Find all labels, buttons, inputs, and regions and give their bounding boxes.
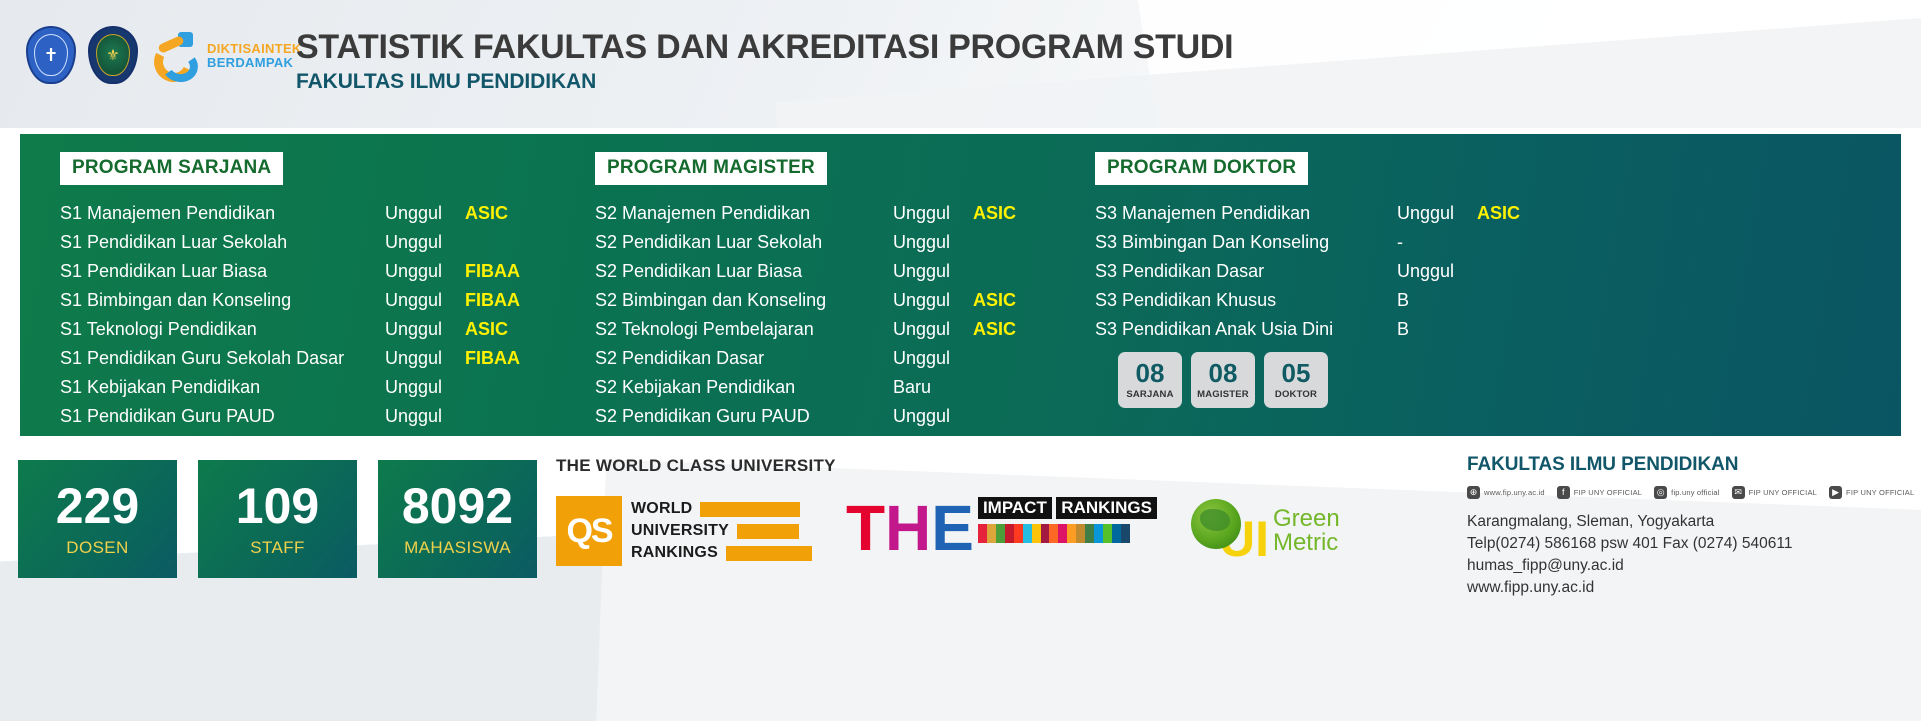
program-name: S2 Kebijakan Pendidikan — [595, 377, 893, 398]
count-number: 08 — [1209, 360, 1238, 386]
address-line-4[interactable]: www.fipp.uny.ac.id — [1467, 577, 1914, 599]
social-links-row: ⊕ www.fip.uny.ac.id f FIP UNY OFFICIAL ◎… — [1467, 486, 1914, 499]
page-title: STATISTIK FAKULTAS DAN AKREDITASI PROGRA… — [296, 28, 1233, 67]
address-line-1: Karangmalang, Sleman, Yogyakarta — [1467, 511, 1914, 533]
diktisaintek-mark-icon — [150, 28, 202, 84]
social-link-instagram[interactable]: ◎ fip.uny official — [1654, 486, 1720, 499]
diktisaintek-berdampak-logo: DIKTISAINTEK BERDAMPAK — [150, 28, 302, 84]
program-column-doktor: PROGRAM DOKTOR S3 Manajemen Pendidikan U… — [1095, 152, 1520, 348]
program-status: Unggul — [385, 203, 465, 224]
program-name: S2 Teknologi Pembelajaran — [595, 319, 893, 340]
count-label: SARJANA — [1126, 389, 1173, 400]
address-block: Karangmalang, Sleman, Yogyakarta Telp(02… — [1467, 511, 1914, 599]
table-row: S1 Pendidikan Luar Sekolah Unggul — [60, 232, 520, 261]
qs-line-rankings: RANKINGS — [631, 544, 718, 562]
program-accreditation: FIBAA — [465, 261, 520, 282]
the-letter-e: E — [931, 502, 974, 554]
facebook-icon: f — [1557, 486, 1570, 499]
program-status: Unggul — [893, 203, 973, 224]
address-line-3[interactable]: humas_fipp@uny.ac.id — [1467, 555, 1914, 577]
program-list-doktor: S3 Manajemen Pendidikan Unggul ASIC S3 B… — [1095, 203, 1520, 348]
program-name: S3 Bimbingan Dan Konseling — [1095, 232, 1397, 253]
program-name: S1 Teknologi Pendidikan — [60, 319, 385, 340]
program-accreditation: ASIC — [973, 203, 1016, 224]
program-name: S3 Pendidikan Dasar — [1095, 261, 1397, 282]
table-row: S1 Pendidikan Guru Sekolah Dasar Unggul … — [60, 348, 520, 377]
table-row: S3 Pendidikan Anak Usia Dini B — [1095, 319, 1520, 348]
program-accreditation: ASIC — [465, 319, 508, 340]
table-row: S3 Bimbingan Dan Konseling - — [1095, 232, 1520, 261]
youtube-icon: ▶ — [1829, 486, 1842, 499]
qs-bar-2-icon — [737, 524, 799, 539]
the-letter-t: T — [846, 502, 885, 554]
program-status: Unggul — [893, 232, 973, 253]
program-status: Unggul — [385, 377, 465, 398]
count-badge-sarjana: 08 SARJANA — [1118, 352, 1182, 408]
stat-number: 8092 — [402, 481, 513, 531]
count-label: MAGISTER — [1197, 389, 1249, 400]
program-name: S1 Pendidikan Luar Biasa — [60, 261, 385, 282]
social-label: www.fip.uny.ac.id — [1484, 488, 1545, 497]
twitter-icon: ✉ — [1732, 486, 1745, 499]
table-row: S2 Pendidikan Guru PAUD Unggul — [595, 406, 1016, 435]
program-name: S2 Pendidikan Luar Sekolah — [595, 232, 893, 253]
program-column-magister: PROGRAM MAGISTER S2 Manajemen Pendidikan… — [595, 152, 1016, 435]
program-name: S1 Pendidikan Luar Sekolah — [60, 232, 385, 253]
program-status: Unggul — [385, 290, 465, 311]
stat-card-mahasiswa: 8092 MAHASISWA — [378, 460, 537, 578]
the-tag-rankings: RANKINGS — [1056, 497, 1157, 519]
stat-label: DOSEN — [66, 538, 128, 558]
qs-bar-1-icon — [700, 502, 800, 517]
program-status: B — [1397, 319, 1477, 340]
program-status: Unggul — [1397, 203, 1477, 224]
table-row: S1 Pendidikan Luar Biasa Unggul FIBAA — [60, 261, 520, 290]
program-name: S1 Pendidikan Guru Sekolah Dasar — [60, 348, 385, 369]
program-accreditation: FIBAA — [465, 290, 520, 311]
program-status: Unggul — [385, 348, 465, 369]
accreditation-panel: PROGRAM SARJANA S1 Manajemen Pendidikan … — [20, 134, 1901, 436]
count-badge-magister: 08 MAGISTER — [1191, 352, 1255, 408]
program-status: Unggul — [893, 319, 973, 340]
rankings-title: THE WORLD CLASS UNIVERSITY — [556, 456, 1340, 476]
the-tag-impact: IMPACT — [978, 497, 1052, 519]
program-status: Unggul — [893, 261, 973, 282]
qs-world-university-rankings-logo: QS WORLD UNIVERSITY RANKINGS — [556, 496, 812, 566]
uny-university-seal-icon: ⚜ — [88, 26, 140, 86]
count-number: 08 — [1136, 360, 1165, 386]
table-row: S2 Pendidikan Luar Sekolah Unggul — [595, 232, 1016, 261]
qs-line-university: UNIVERSITY — [631, 522, 729, 540]
table-row: S2 Manajemen Pendidikan Unggul ASIC — [595, 203, 1016, 232]
table-row: S2 Pendidikan Dasar Unggul — [595, 348, 1016, 377]
program-status: Unggul — [385, 406, 465, 427]
stat-number: 229 — [56, 481, 139, 531]
table-row: S2 Pendidikan Luar Biasa Unggul — [595, 261, 1016, 290]
social-label: fip.uny official — [1671, 488, 1720, 497]
table-row: S1 Kebijakan Pendidikan Unggul — [60, 377, 520, 406]
program-name: S1 Manajemen Pendidikan — [60, 203, 385, 224]
table-row: S2 Bimbingan dan Konseling Unggul ASIC — [595, 290, 1016, 319]
table-row: S1 Pendidikan Guru PAUD Unggul — [60, 406, 520, 435]
the-impact-rankings-logo: T H E IMPACT RANKINGS — [846, 494, 1157, 568]
greenmetric-green-label: Green — [1273, 507, 1340, 531]
social-link-youtube[interactable]: ▶ FIP UNY OFFICIAL — [1829, 486, 1914, 499]
social-link-website[interactable]: ⊕ www.fip.uny.ac.id — [1467, 486, 1545, 499]
qs-glyph: QS — [566, 512, 611, 551]
program-accreditation: FIBAA — [465, 348, 520, 369]
instagram-icon: ◎ — [1654, 486, 1667, 499]
social-label: FIP UNY OFFICIAL — [1846, 488, 1914, 497]
table-row: S2 Kebijakan Pendidikan Baru — [595, 377, 1016, 406]
program-column-sarjana: PROGRAM SARJANA S1 Manajemen Pendidikan … — [60, 152, 520, 435]
social-label: FIP UNY OFFICIAL — [1574, 488, 1642, 497]
qs-logo-icon: QS — [556, 496, 622, 566]
count-badge-doktor: 05 DOKTOR — [1264, 352, 1328, 408]
table-row: S3 Manajemen Pendidikan Unggul ASIC — [1095, 203, 1520, 232]
world-class-rankings-section: THE WORLD CLASS UNIVERSITY QS WORLD UNIV… — [556, 456, 1340, 568]
program-status: Unggul — [385, 232, 465, 253]
program-list-sarjana: S1 Manajemen Pendidikan Unggul ASIC S1 P… — [60, 203, 520, 435]
count-label: DOKTOR — [1275, 389, 1317, 400]
table-row: S1 Manajemen Pendidikan Unggul ASIC — [60, 203, 520, 232]
logo-group: 🕇 ⚜ DIKTISAINTEK BERDAMPAK — [26, 26, 302, 86]
qs-line-world: WORLD — [631, 500, 692, 518]
stat-label: STAFF — [250, 538, 305, 558]
rankings-logo-row: QS WORLD UNIVERSITY RANKINGS — [556, 494, 1340, 568]
program-name: S1 Bimbingan dan Konseling — [60, 290, 385, 311]
program-accreditation: ASIC — [973, 290, 1016, 311]
program-status: Unggul — [893, 290, 973, 311]
table-row: S2 Teknologi Pembelajaran Unggul ASIC — [595, 319, 1016, 348]
column-title-magister: PROGRAM MAGISTER — [595, 152, 827, 185]
program-name: S2 Pendidikan Luar Biasa — [595, 261, 893, 282]
social-label: FIP UNY OFFICIAL — [1749, 488, 1817, 497]
ui-greenmetric-logo: UI Green Metric — [1191, 499, 1340, 563]
program-name: S3 Pendidikan Anak Usia Dini — [1095, 319, 1397, 340]
qs-bar-3-icon — [726, 546, 812, 561]
program-count-badges: 08 SARJANA 08 MAGISTER 05 DOKTOR — [1118, 352, 1328, 408]
social-link-twitter[interactable]: ✉ FIP UNY OFFICIAL — [1732, 486, 1817, 499]
tut-wuri-handayani-logo-icon: 🕇 — [26, 26, 78, 86]
column-title-sarjana: PROGRAM SARJANA — [60, 152, 283, 185]
contact-section: FAKULTAS ILMU PENDIDIKAN ⊕ www.fip.uny.a… — [1467, 454, 1914, 599]
diktisaintek-label-line1: DIKTISAINTEK — [207, 42, 302, 56]
address-line-2: Telp(0274) 586168 psw 401 Fax (0274) 540… — [1467, 533, 1914, 555]
the-letters-icon: T H E — [846, 494, 974, 554]
table-row: S1 Teknologi Pendidikan Unggul ASIC — [60, 319, 520, 348]
program-accreditation: ASIC — [973, 319, 1016, 340]
program-list-magister: S2 Manajemen Pendidikan Unggul ASIC S2 P… — [595, 203, 1016, 435]
greenmetric-metric-label: Metric — [1273, 531, 1340, 555]
program-name: S3 Pendidikan Khusus — [1095, 290, 1397, 311]
program-name: S2 Bimbingan dan Konseling — [595, 290, 893, 311]
table-row: S3 Pendidikan Dasar Unggul — [1095, 261, 1520, 290]
table-row: S3 Pendidikan Khusus B — [1095, 290, 1520, 319]
page-header: 🕇 ⚜ DIKTISAINTEK BERDAMPAK STATISTIK FAK… — [0, 0, 1921, 128]
page-subtitle: FAKULTAS ILMU PENDIDIKAN — [296, 70, 1233, 94]
globe-icon — [1191, 499, 1241, 549]
diktisaintek-label-line2: BERDAMPAK — [207, 56, 302, 70]
program-status: B — [1397, 290, 1477, 311]
table-row: S1 Bimbingan dan Konseling Unggul FIBAA — [60, 290, 520, 319]
social-link-facebook[interactable]: f FIP UNY OFFICIAL — [1557, 486, 1642, 499]
program-status: - — [1397, 232, 1477, 253]
program-name: S1 Pendidikan Guru PAUD — [60, 406, 385, 427]
header-titles: STATISTIK FAKULTAS DAN AKREDITASI PROGRA… — [296, 28, 1233, 94]
stat-card-staff: 109 STAFF — [198, 460, 357, 578]
the-letter-h: H — [885, 502, 931, 554]
program-name: S2 Manajemen Pendidikan — [595, 203, 893, 224]
program-name: S2 Pendidikan Guru PAUD — [595, 406, 893, 427]
stat-label: MAHASISWA — [404, 538, 511, 558]
program-status: Unggul — [893, 348, 973, 369]
program-name: S1 Kebijakan Pendidikan — [60, 377, 385, 398]
infographic-page: 🕇 ⚜ DIKTISAINTEK BERDAMPAK STATISTIK FAK… — [0, 0, 1921, 721]
program-name: S2 Pendidikan Dasar — [595, 348, 893, 369]
stat-number: 109 — [236, 481, 319, 531]
program-status: Unggul — [385, 319, 465, 340]
statistics-group: 229 DOSEN 109 STAFF 8092 MAHASISWA — [18, 460, 537, 578]
program-status: Unggul — [1397, 261, 1477, 282]
program-accreditation: ASIC — [1477, 203, 1520, 224]
globe-icon: ⊕ — [1467, 486, 1480, 499]
program-status: Unggul — [385, 261, 465, 282]
count-number: 05 — [1282, 360, 1311, 386]
program-name: S3 Manajemen Pendidikan — [1095, 203, 1397, 224]
program-status: Unggul — [893, 406, 973, 427]
program-accreditation: ASIC — [465, 203, 508, 224]
sdg-color-bar-icon — [978, 524, 1130, 543]
contact-title: FAKULTAS ILMU PENDIDIKAN — [1467, 454, 1914, 476]
stat-card-dosen: 229 DOSEN — [18, 460, 177, 578]
page-footer: 229 DOSEN 109 STAFF 8092 MAHASISWA THE W… — [0, 436, 1921, 721]
column-title-doktor: PROGRAM DOKTOR — [1095, 152, 1308, 185]
program-status: Baru — [893, 377, 973, 398]
